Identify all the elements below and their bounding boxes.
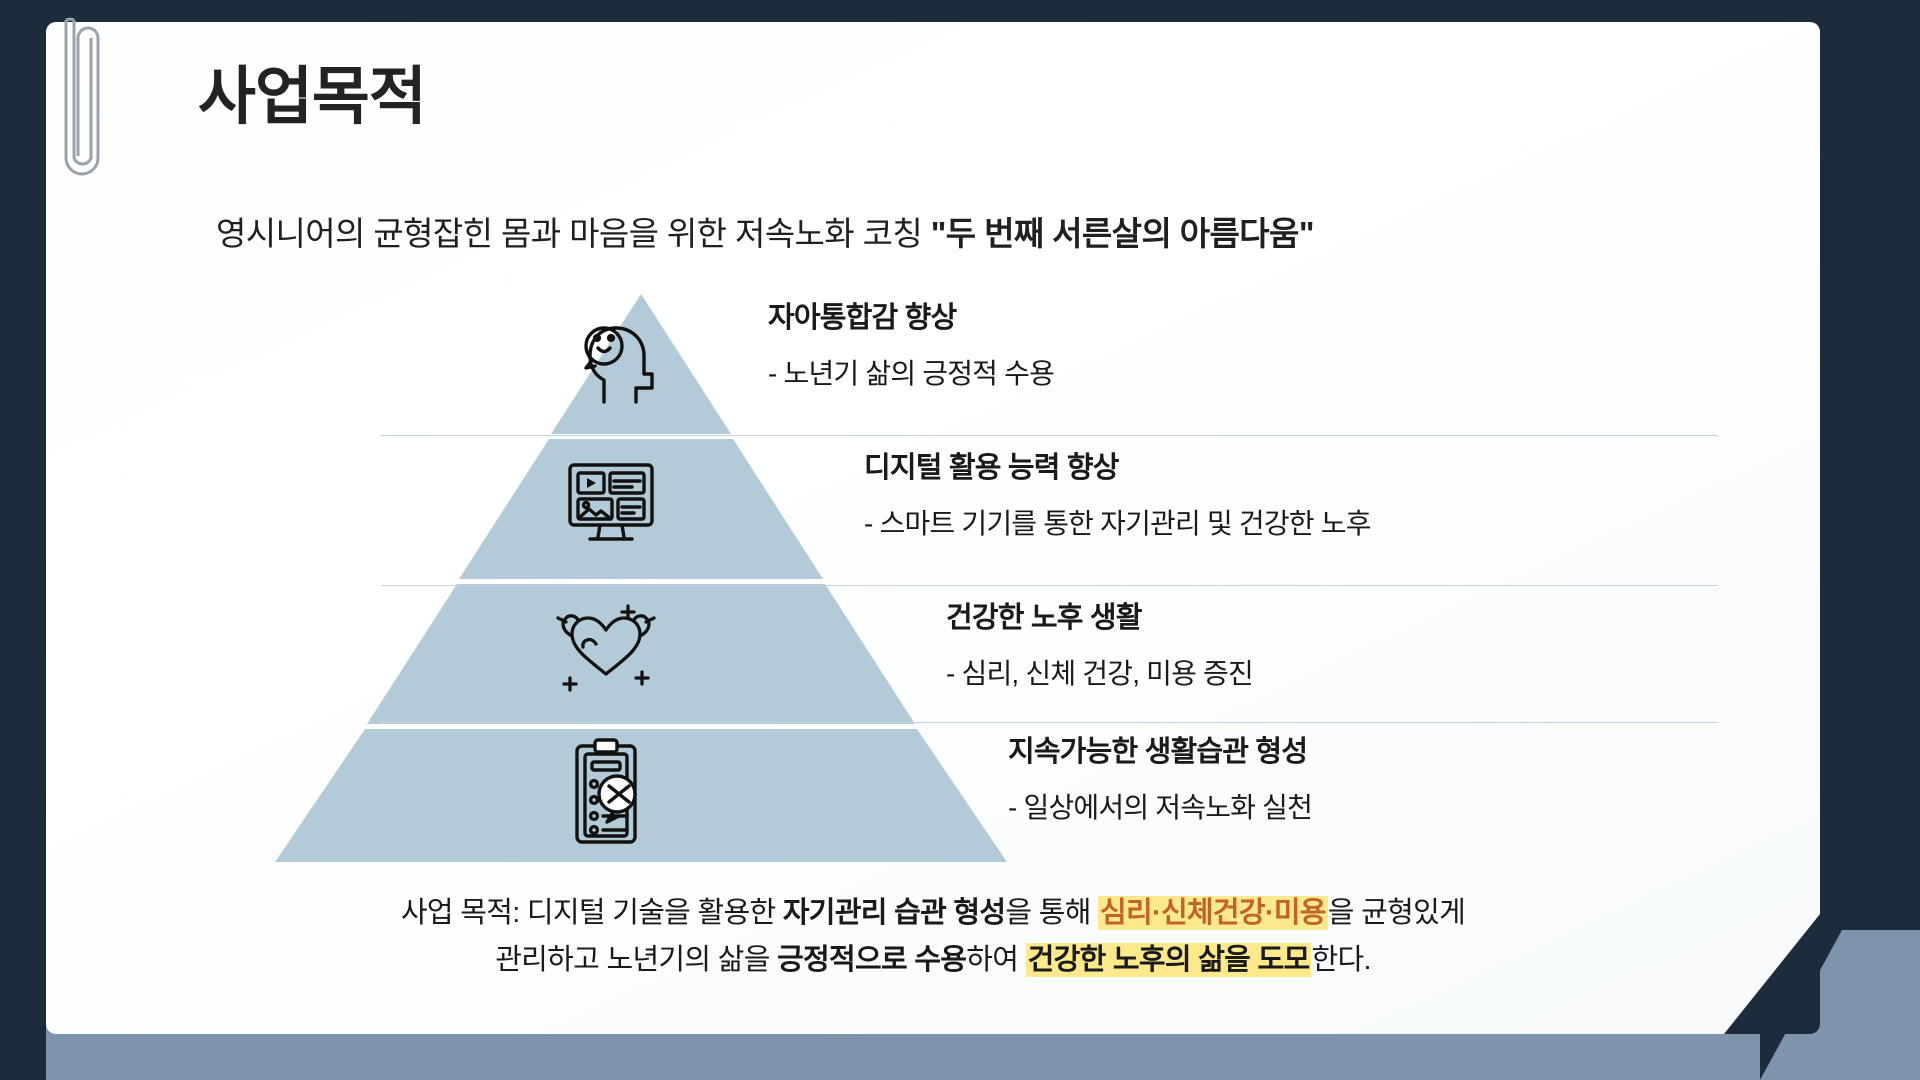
summary-l1-highlight: 심리·신체건강·미용 <box>1098 896 1328 930</box>
tier-rule-2 <box>381 585 1718 586</box>
summary-l1-seg3: 을 통해 <box>1005 897 1098 929</box>
slide-root: 사업목적 영시니어의 균형잡힌 몸과 마음을 위한 저속노화 코칭 "두 번째 … <box>0 0 1920 1080</box>
summary-l2-highlight: 건강한 노후의 삶을 도모 <box>1026 943 1312 977</box>
tier-text-4: 지속가능한 생활습관 형성 - 일상에서의 저속노화 실천 <box>1008 728 1312 826</box>
tier-2-detail: - 스마트 기기를 통한 자기관리 및 건강한 노후 <box>864 502 1371 542</box>
head-thought-smile-icon <box>566 302 676 412</box>
paperclip-icon <box>44 8 124 198</box>
ribbon-left-cap <box>0 930 46 1080</box>
subtitle-quoted: "두 번째 서른살의 아름다움" <box>931 215 1314 252</box>
summary-line-1: 사업 목적: 디지털 기술을 활용한 자기관리 습관 형성을 통해 심리·신체건… <box>46 890 1820 937</box>
summary-line-2: 관리하고 노년기의 삶을 긍정적으로 수용하여 건강한 노후의 삶을 도모한다. <box>46 937 1820 984</box>
tier-text-2: 디지털 활용 능력 향상 - 스마트 기기를 통한 자기관리 및 건강한 노후 <box>864 444 1371 542</box>
checklist-clipboard-icon <box>551 732 661 852</box>
summary-l1-seg1: 사업 목적: 디지털 기술을 활용한 <box>401 897 783 929</box>
summary-l2-seg5: 한다. <box>1311 944 1370 976</box>
tier-4-detail: - 일상에서의 저속노화 실천 <box>1008 786 1312 826</box>
tier-rule-1 <box>381 435 1718 436</box>
tier-3-detail: - 심리, 신체 건강, 미용 증진 <box>946 652 1253 692</box>
summary-l2-seg1: 관리하고 노년기의 삶을 <box>495 944 777 976</box>
summary-l1-bold: 자기관리 습관 형성 <box>783 897 1006 929</box>
tier-1-heading: 자아통합감 향상 <box>768 294 1054 336</box>
tier-4-heading: 지속가능한 생활습관 형성 <box>1008 728 1312 770</box>
tier-text-3: 건강한 노후 생활 - 심리, 신체 건강, 미용 증진 <box>946 594 1253 692</box>
tier-2-heading: 디지털 활용 능력 향상 <box>864 444 1371 486</box>
subtitle-plain: 영시니어의 균형잡힌 몸과 마음을 위한 저속노화 코칭 <box>216 215 931 252</box>
summary-l1-seg5: 을 균형있게 <box>1328 897 1465 929</box>
summary-statement: 사업 목적: 디지털 기술을 활용한 자기관리 습관 형성을 통해 심리·신체건… <box>46 890 1820 984</box>
tier-text-1: 자아통합감 향상 - 노년기 삶의 긍정적 수용 <box>768 294 1054 392</box>
heart-muscle-health-icon <box>546 592 666 702</box>
page-title: 사업목적 <box>198 66 426 129</box>
summary-l2-seg3: 하여 <box>966 944 1025 976</box>
tier-3-heading: 건강한 노후 생활 <box>946 594 1253 636</box>
desktop-monitor-media-icon <box>556 447 666 557</box>
tier-rule-3 <box>381 722 1718 723</box>
content-card: 사업목적 영시니어의 균형잡힌 몸과 마음을 위한 저속노화 코칭 "두 번째 … <box>46 22 1820 1034</box>
page-subtitle: 영시니어의 균형잡힌 몸과 마음을 위한 저속노화 코칭 "두 번째 서른살의 … <box>216 207 1314 255</box>
summary-l2-bold: 긍정적으로 수용 <box>777 944 966 976</box>
tier-1-detail: - 노년기 삶의 긍정적 수용 <box>768 352 1054 392</box>
